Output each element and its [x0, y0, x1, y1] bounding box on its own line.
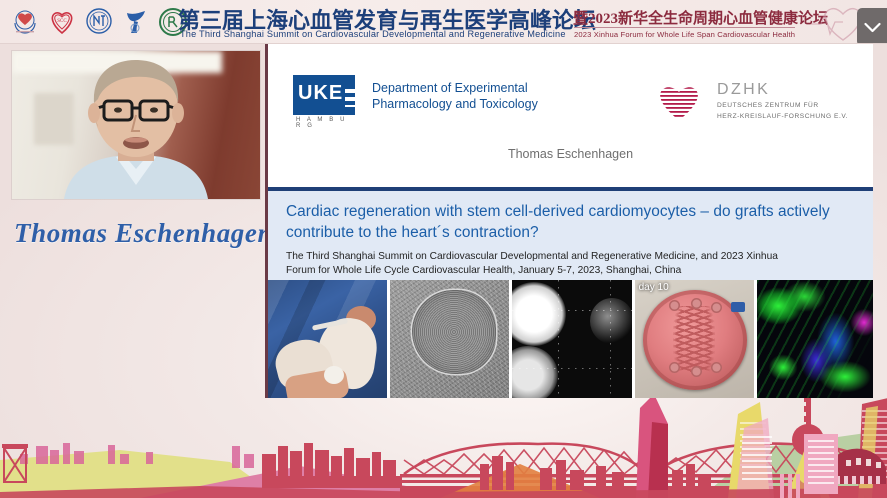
slide-subtitle: The Third Shanghai Summit on Cardiovascu… — [286, 250, 857, 277]
uke-logo-text: UKE — [298, 82, 343, 105]
figure-caption-day10: day 10 — [639, 282, 669, 293]
blue-circular-institute-logo — [84, 7, 114, 37]
slide-title-block: Cardiac regeneration with stem cell-deri… — [268, 191, 873, 280]
slide-figure-strip: day 10 — [268, 280, 873, 398]
uke-department-text: Department of Experimental Pharmacology … — [372, 80, 562, 112]
shanghai-skyline-graphic — [0, 388, 887, 498]
slide-subtitle-line2: Forum for Whole Life Cycle Cardiovascula… — [286, 264, 857, 278]
figure-petri-dish-tissue-construct: day 10 — [635, 280, 754, 398]
speaker-name-caption: Thomas Eschenhagen — [14, 218, 273, 249]
banner-logo-row: SCC — [10, 7, 188, 37]
uke-logo-e-mark — [345, 85, 355, 107]
slide-subtitle-line1: The Third Shanghai Summit on Cardiovascu… — [286, 250, 857, 264]
uke-department-line1: Department of Experimental — [372, 80, 562, 96]
figure-immunofluorescence-histology — [757, 280, 873, 398]
figure-engineered-heart-tissue-darkfield — [512, 280, 631, 398]
uke-hamburg-logo: UKE H A M B U R G — [293, 75, 355, 123]
slide-presenter-name: Thomas Eschenhagen — [268, 147, 873, 161]
shanghai-heart-emblem-logo — [10, 7, 40, 37]
slide-title: Cardiac regeneration with stem cell-deri… — [286, 201, 857, 243]
dzhk-logo: DZHK Deutsches Zentrum für Herz-Kreislau… — [653, 81, 848, 121]
collapse-banner-button[interactable] — [857, 8, 887, 44]
uke-logo-hamburg-text: H A M B U R G — [296, 117, 355, 129]
figure-surgery-photo — [268, 280, 387, 398]
chevron-down-icon — [864, 22, 881, 33]
dzhk-striped-heart-icon — [653, 81, 705, 121]
speaker-portrait — [12, 51, 260, 199]
dzhk-subtitle-line1: Deutsches Zentrum für — [717, 101, 848, 110]
banner-subtitle-english: 2023 Xinhua Forum for Whole Life Span Ca… — [574, 27, 795, 39]
dzhk-subtitle-line2: Herz-Kreislauf-Forschung e.V. — [717, 112, 848, 121]
uke-department-line2: Pharmacology and Toxicology — [372, 96, 562, 112]
banner-subtitle-chinese: 暨2023新华全生命周期心血管健康论坛 — [573, 7, 828, 28]
blue-dove-logo — [121, 7, 151, 37]
figure-stem-cell-colony-micrograph — [390, 280, 509, 398]
banner-title-english: The Third Shanghai Summit on Cardiovascu… — [180, 29, 566, 39]
presentation-viewer: SCC — [0, 0, 887, 498]
speaker-video-feed[interactable] — [12, 51, 260, 199]
slide-canvas: UKE H A M B U R G Department of Experime… — [268, 44, 873, 398]
svg-text:SCC: SCC — [57, 19, 67, 24]
dzhk-name: DZHK — [717, 81, 848, 99]
presentation-slide[interactable]: UKE H A M B U R G Department of Experime… — [265, 44, 873, 398]
conference-banner: SCC — [0, 0, 887, 44]
red-heart-emblem-logo: SCC — [47, 7, 77, 37]
